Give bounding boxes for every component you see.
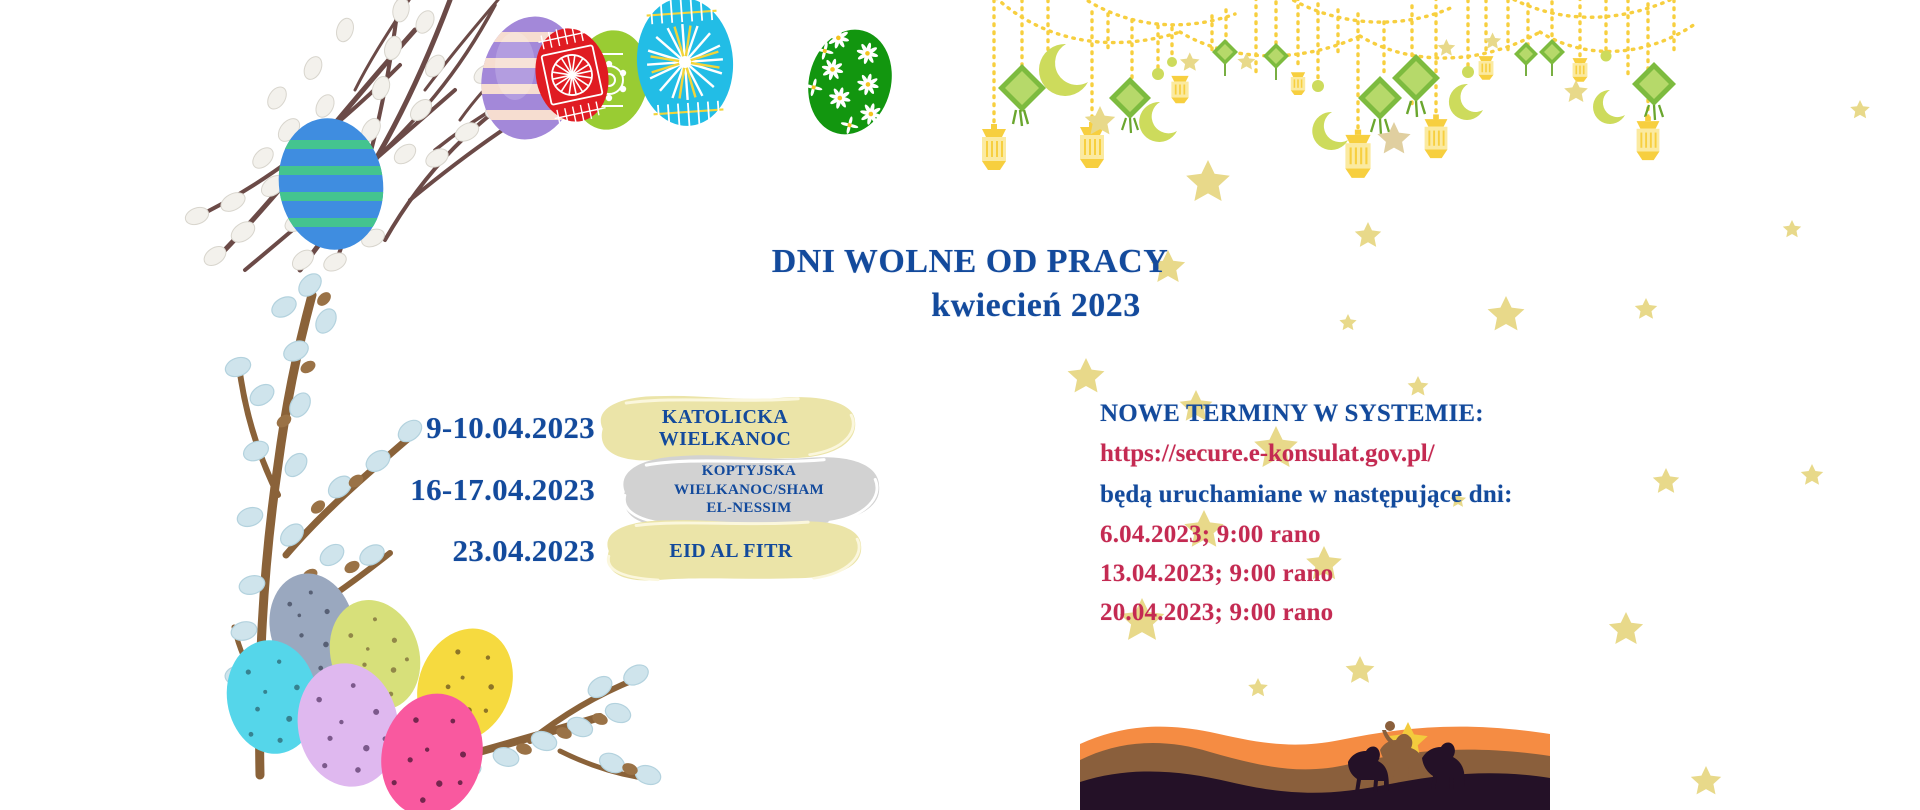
info-subheading: będą uruchamiane w następujące dni: [1100, 479, 1860, 510]
red-radial-egg-shape [527, 21, 617, 130]
ramadan-hanging-decoration [980, 0, 1700, 187]
info-heading: NOWE TERMINY W SYSTEMIE: [1100, 398, 1860, 429]
holiday-schedule: 9-10.04.2023 KATOLICKA WIELKANOC 16-17.0… [330, 405, 1020, 571]
badge-label: KOPTYJSKA WIELKANOC/SHAM EL-NESSIM [674, 462, 824, 518]
cyan-starburst-egg-shape [633, 0, 738, 130]
badge-label-line: KATOLICKA [662, 406, 788, 428]
speckled-eggs-cluster [220, 565, 530, 810]
system-info-block: NOWE TERMINY W SYSTEMIE: https://secure.… [1100, 398, 1860, 637]
holiday-date: 16-17.04.2023 [330, 472, 595, 508]
desert-caravan-decoration [1080, 700, 1550, 810]
appointment-slot: 20.04.2023; 9:00 rano [1100, 597, 1860, 628]
star-icon [1388, 722, 1427, 759]
schedule-row: 16-17.04.2023 KOPTYJSKA WIELKANOC/SHAM E… [330, 463, 1020, 517]
badge-label-line: EL-NESSIM [706, 500, 791, 516]
holiday-badge-eid-al-fitr: EID AL FITR [615, 531, 847, 571]
star-icon [1180, 32, 1501, 70]
holiday-date: 9-10.04.2023 [330, 410, 595, 446]
badge-label-line: WIELKANOC/SHAM [674, 482, 824, 498]
willow-branches-top-decoration [185, 0, 745, 270]
title-line-1: DNI WOLNE OD PRACY [0, 240, 1920, 284]
blue-striped-egg-shape [270, 111, 391, 256]
badge-label: EID AL FITR [669, 540, 792, 562]
schedule-row: 9-10.04.2023 KATOLICKA WIELKANOC [330, 405, 1020, 451]
crescent-moon-icon [1039, 44, 1625, 150]
lantern-icon [982, 56, 1659, 178]
title-line-2: kwiecień 2023 [0, 284, 1920, 328]
ketupat-icon [998, 39, 1676, 135]
badge-label-line: WIELKANOC [659, 428, 792, 450]
schedule-row: 23.04.2023 EID AL FITR [330, 531, 1020, 571]
poster-canvas: DNI WOLNE OD PRACY kwiecień 2023 9-10.04… [0, 0, 1920, 810]
badge-label: KATOLICKA WIELKANOC [659, 406, 792, 451]
holiday-date: 23.04.2023 [330, 533, 595, 569]
camel-silhouette [1380, 721, 1424, 780]
holiday-badge-koptyjska-wielkanoc: KOPTYJSKA WIELKANOC/SHAM EL-NESSIM [633, 463, 865, 517]
green-floral-egg-shape [564, 24, 656, 136]
page-title: DNI WOLNE OD PRACY kwiecień 2023 [0, 240, 1920, 327]
econsulate-url[interactable]: https://secure.e-konsulat.gov.pl/ [1100, 438, 1860, 469]
decorated-eggs-top-decoration [510, 0, 1030, 190]
appointment-slot: 6.04.2023; 9:00 rano [1100, 519, 1860, 550]
badge-label-line: KOPTYJSKA [702, 463, 796, 479]
holiday-badge-katolicka-wielkanoc: KATOLICKA WIELKANOC [609, 405, 841, 451]
green-daisy-egg-shape [795, 20, 902, 143]
purple-striped-egg-shape [470, 7, 590, 148]
appointment-slot: 13.04.2023; 9:00 rano [1100, 558, 1860, 589]
